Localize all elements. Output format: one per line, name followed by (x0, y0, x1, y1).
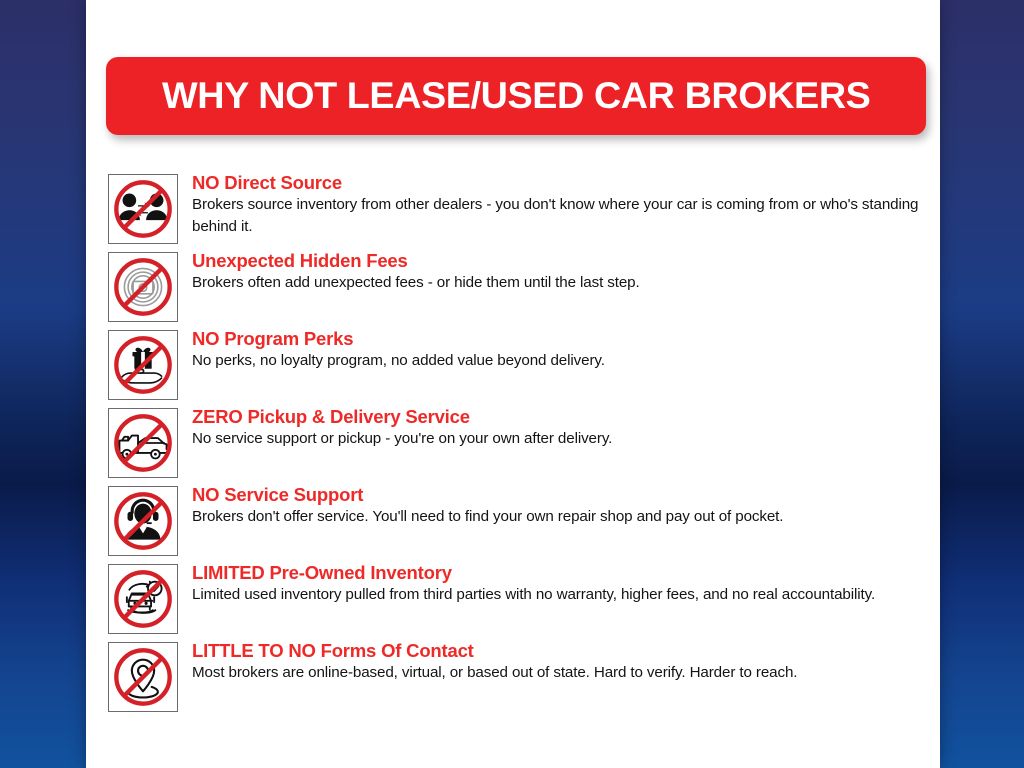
item-title: NO Service Support (192, 484, 783, 505)
icon-box (108, 642, 178, 712)
icon-box (108, 174, 178, 244)
item-title: LITTLE TO NO Forms Of Contact (192, 640, 797, 661)
list-item: NO Program Perks No perks, no loyalty pr… (108, 326, 928, 400)
no-gift-perks-hand-icon (112, 334, 174, 396)
no-tow-truck-delivery-icon (112, 412, 174, 474)
item-title: ZERO Pickup & Delivery Service (192, 406, 612, 427)
no-used-car-inventory-check-icon (112, 568, 174, 630)
item-description: Most brokers are online-based, virtual, … (192, 662, 797, 684)
list-item: LITTLE TO NO Forms Of Contact Most broke… (108, 638, 928, 712)
item-title: Unexpected Hidden Fees (192, 250, 640, 271)
item-description: No perks, no loyalty program, no added v… (192, 350, 605, 372)
icon-box (108, 330, 178, 400)
page-title: WHY NOT LEASE/USED CAR BROKERS (162, 75, 870, 117)
item-description: No service support or pickup - you're on… (192, 428, 612, 450)
list-item: Unexpected Hidden Fees Brokers often add… (108, 248, 928, 322)
item-description: Brokers source inventory from other deal… (192, 194, 922, 237)
icon-box (108, 486, 178, 556)
item-description: Brokers often add unexpected fees - or h… (192, 272, 640, 294)
list-item: ZERO Pickup & Delivery Service No servic… (108, 404, 928, 478)
item-title: NO Program Perks (192, 328, 605, 349)
item-text: ZERO Pickup & Delivery Service No servic… (178, 404, 612, 450)
no-direct-source-two-people-exchange-icon (112, 178, 174, 240)
item-text: LIMITED Pre-Owned Inventory Limited used… (178, 560, 875, 606)
poster-page: WHY NOT LEASE/USED CAR BROKERS (0, 0, 1024, 768)
item-text: NO Direct Source Brokers source inventor… (178, 170, 922, 237)
list-item: LIMITED Pre-Owned Inventory Limited used… (108, 560, 928, 634)
icon-box (108, 408, 178, 478)
item-title: LIMITED Pre-Owned Inventory (192, 562, 875, 583)
list-item: NO Service Support Brokers don't offer s… (108, 482, 928, 556)
item-description: Limited used inventory pulled from third… (192, 584, 875, 606)
title-banner: WHY NOT LEASE/USED CAR BROKERS (106, 57, 926, 135)
item-text: LITTLE TO NO Forms Of Contact Most broke… (178, 638, 797, 684)
content-card: WHY NOT LEASE/USED CAR BROKERS (86, 0, 940, 768)
item-text: NO Service Support Brokers don't offer s… (178, 482, 783, 528)
no-hidden-fees-money-icon (112, 256, 174, 318)
item-description: Brokers don't offer service. You'll need… (192, 506, 783, 528)
no-headset-support-agent-icon (112, 490, 174, 552)
reasons-list: NO Direct Source Brokers source inventor… (108, 170, 928, 716)
no-location-pin-contact-icon (112, 646, 174, 708)
list-item: NO Direct Source Brokers source inventor… (108, 170, 928, 244)
icon-box (108, 252, 178, 322)
item-text: NO Program Perks No perks, no loyalty pr… (178, 326, 605, 372)
item-text: Unexpected Hidden Fees Brokers often add… (178, 248, 640, 294)
item-title: NO Direct Source (192, 172, 922, 193)
icon-box (108, 564, 178, 634)
